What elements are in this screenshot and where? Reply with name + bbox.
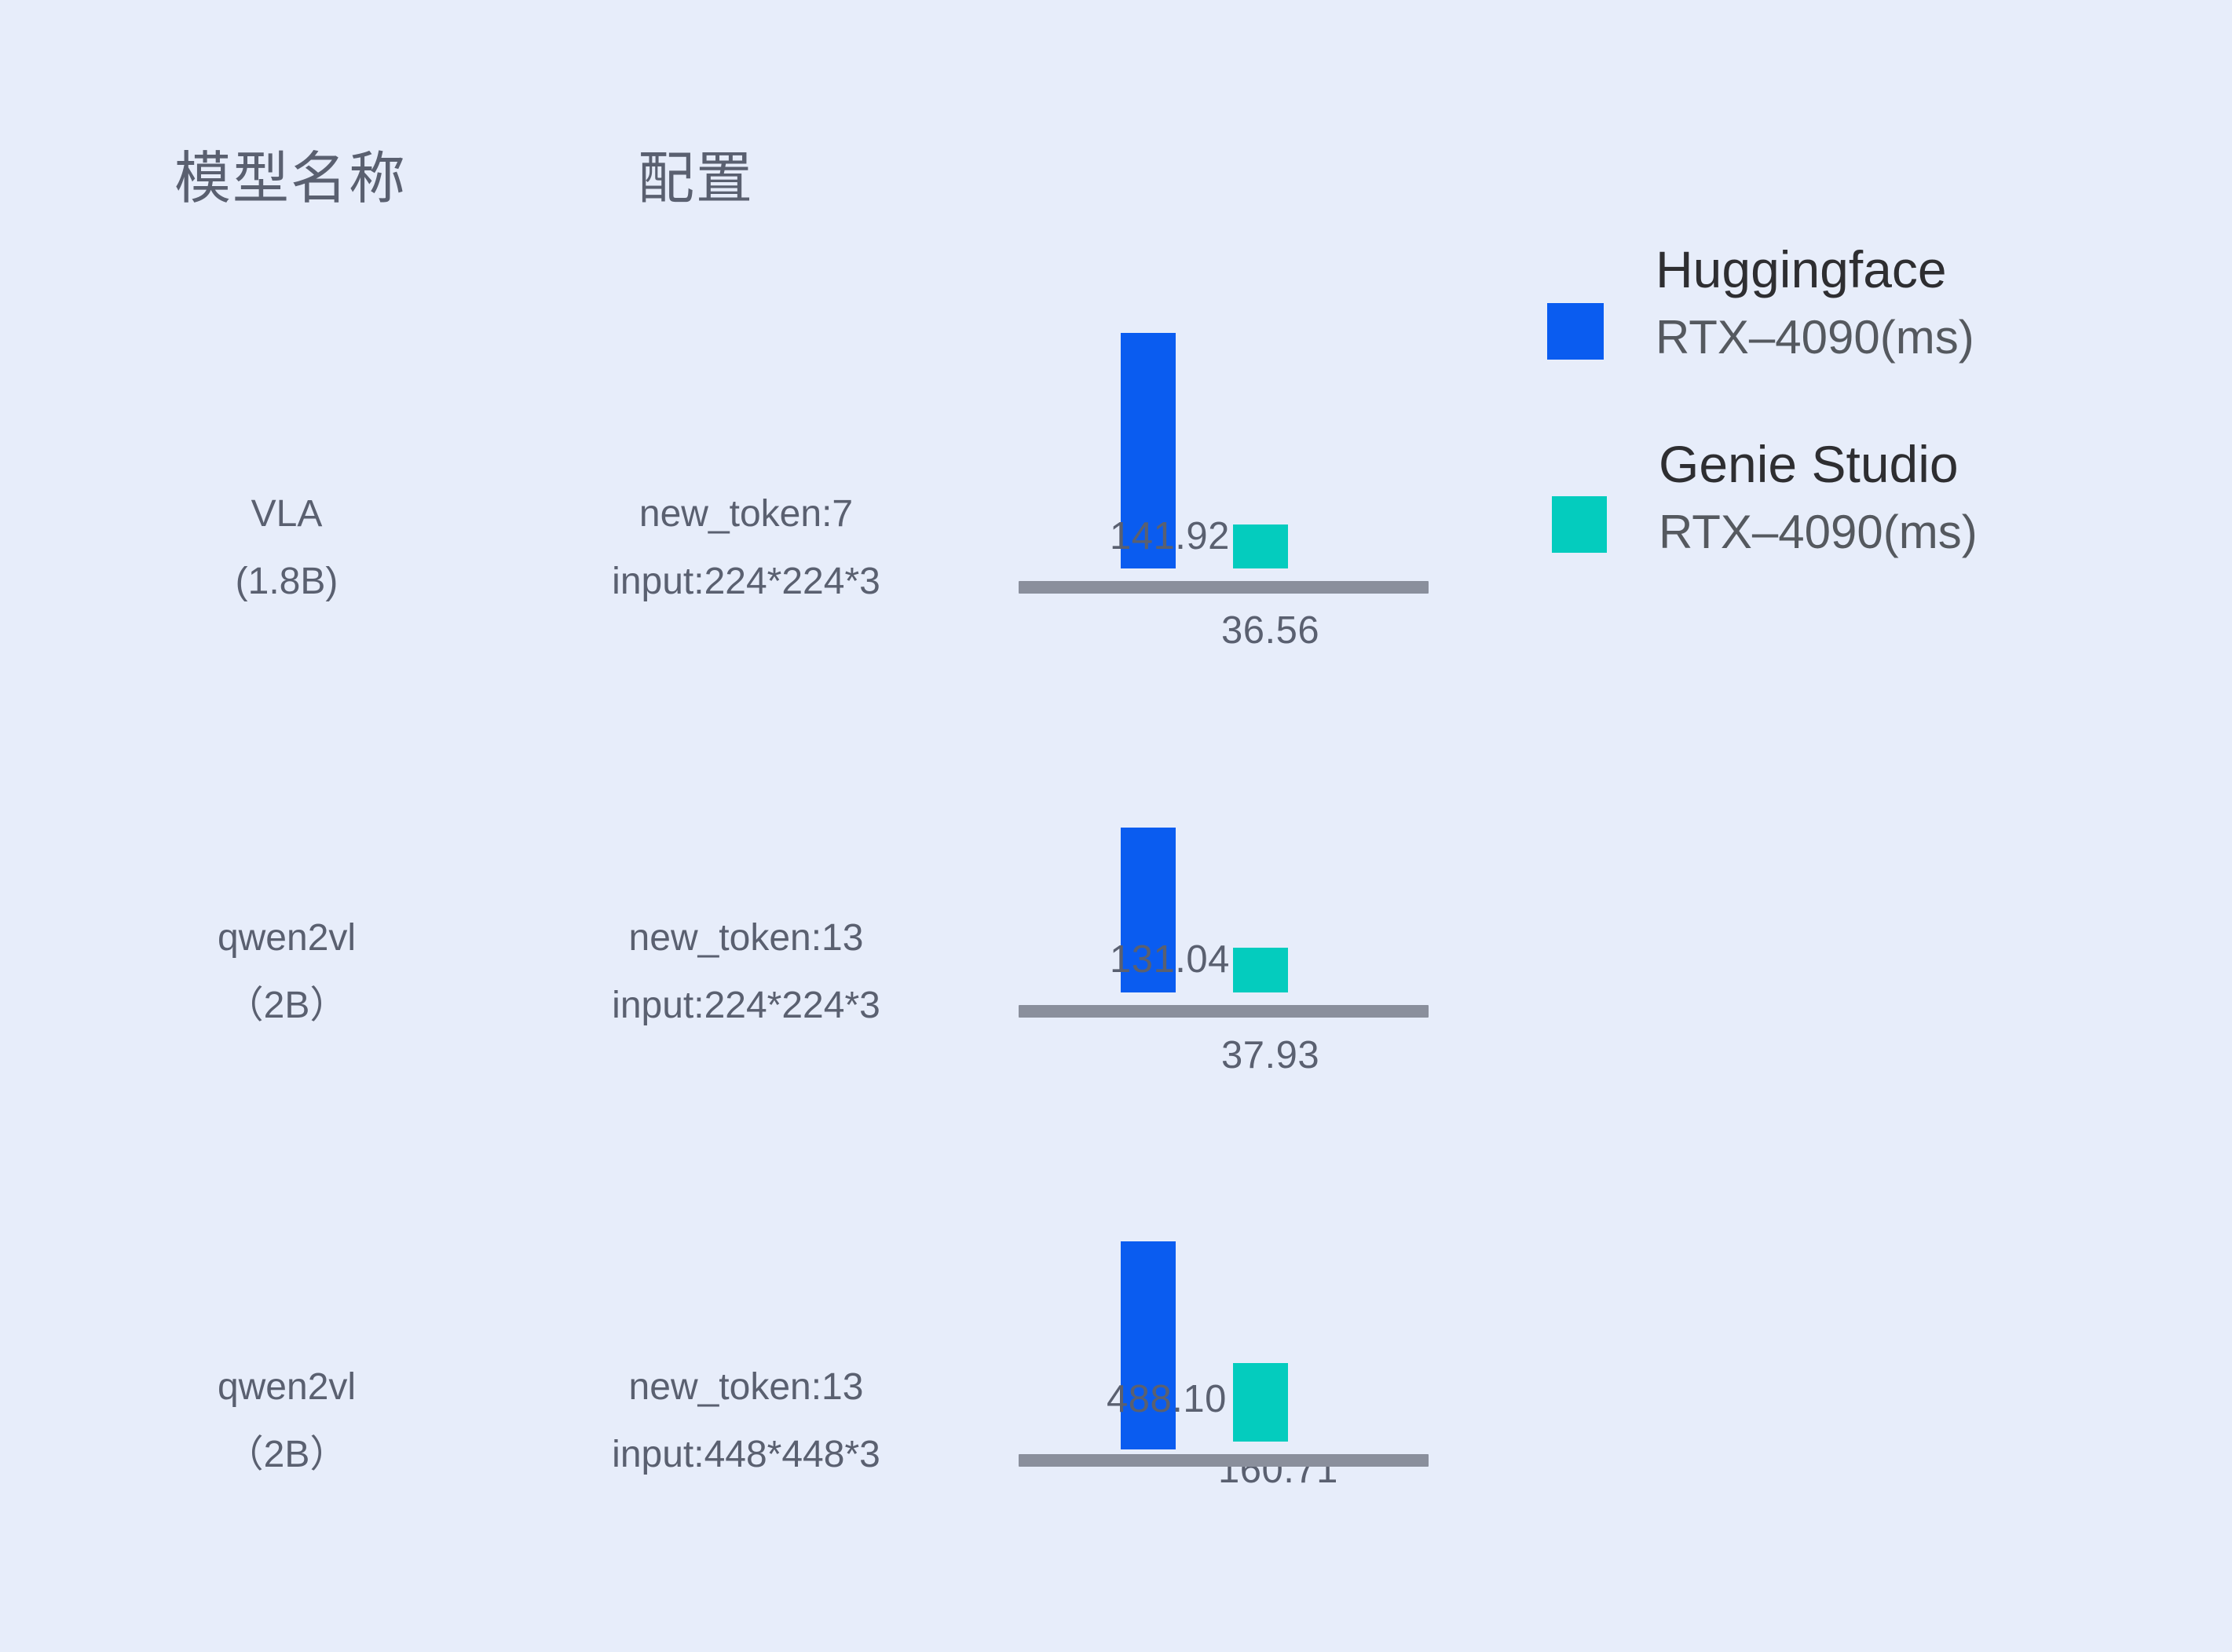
axis-baseline (1019, 1005, 1429, 1018)
bar-value-genie-studio: 37.93 (1221, 1033, 1319, 1077)
config-cell: new_token:13 input:224*224*3 (503, 905, 990, 1040)
bar-value-genie-studio: 36.56 (1221, 609, 1319, 652)
bar-value-huggingface: 141.92 (1110, 514, 1230, 558)
infographic-root: 模型名称 配置 VLA (1.8B) new_token:7 input:224… (0, 0, 2232, 1652)
column-header-model-name: 模型名称 (174, 132, 407, 214)
model-name-line-1: VLA (118, 481, 456, 548)
bar-genie-studio (1233, 524, 1288, 568)
model-name-line-2: （2B） (118, 972, 456, 1040)
config-line-2: input:224*224*3 (503, 548, 990, 616)
model-name-line-1: qwen2vl (118, 905, 456, 972)
legend-swatch-icon (1552, 496, 1607, 553)
legend-text-group: Huggingface RTX–4090(ms) (1656, 236, 2080, 372)
model-name-cell: qwen2vl （2B） (118, 905, 456, 1040)
model-name-line-2: （2B） (118, 1421, 456, 1489)
model-name-line-2: (1.8B) (118, 548, 456, 616)
config-line-2: input:224*224*3 (503, 972, 990, 1040)
column-header-config: 配置 (638, 132, 754, 214)
legend-label: Genie Studio (1659, 430, 2083, 498)
model-name-cell: VLA (1.8B) (118, 481, 456, 616)
config-line-1: new_token:7 (503, 481, 990, 548)
config-line-1: new_token:13 (503, 1354, 990, 1421)
bar-genie-studio (1233, 1363, 1288, 1442)
config-cell: new_token:13 input:448*448*3 (503, 1354, 990, 1489)
bar-value-huggingface: 131.04 (1110, 937, 1230, 981)
config-line-1: new_token:13 (503, 905, 990, 972)
legend-sublabel: RTX–4090(ms) (1656, 303, 2080, 372)
legend-sublabel: RTX–4090(ms) (1659, 498, 2083, 567)
config-cell: new_token:7 input:224*224*3 (503, 481, 990, 616)
legend-label: Huggingface (1656, 236, 2080, 303)
axis-baseline (1019, 581, 1429, 594)
model-name-cell: qwen2vl （2B） (118, 1354, 456, 1489)
bar-value-huggingface: 488.10 (1107, 1377, 1227, 1421)
config-line-2: input:448*448*3 (503, 1421, 990, 1489)
axis-baseline (1019, 1454, 1429, 1467)
legend-swatch-icon (1547, 303, 1604, 360)
model-name-line-1: qwen2vl (118, 1354, 456, 1421)
legend-text-group: Genie Studio RTX–4090(ms) (1659, 430, 2083, 567)
bar-genie-studio (1233, 948, 1288, 992)
